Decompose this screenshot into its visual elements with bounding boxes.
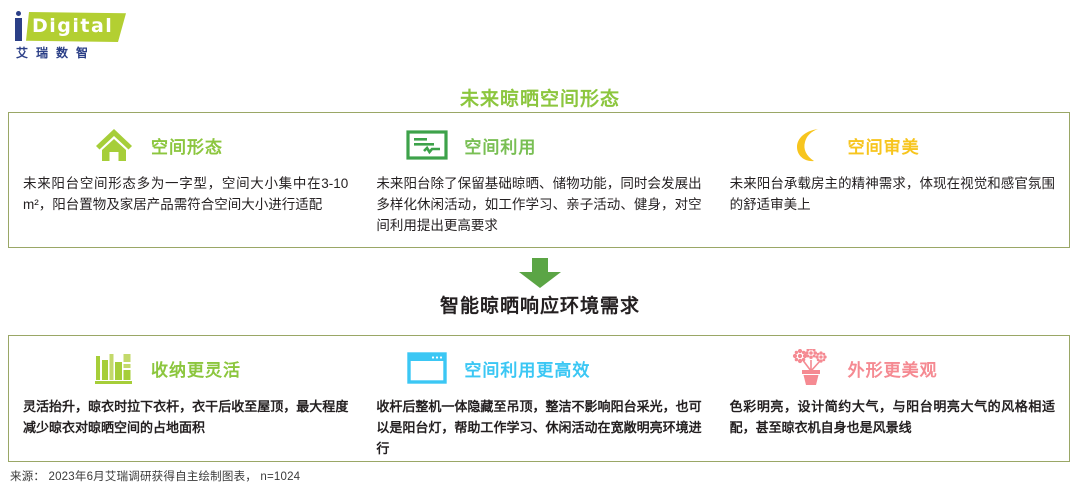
logo-i-stem-icon: [15, 18, 22, 41]
column-title: 空间利用: [464, 133, 536, 158]
column-header: 空间利用更高效: [376, 346, 701, 390]
column-title: 空间利用更高效: [464, 356, 590, 381]
column-header: 空间形态: [23, 123, 348, 167]
logo-chinese-name: 艾瑞数智: [16, 44, 96, 61]
column-header: 空间利用: [376, 123, 701, 167]
source-note: 来源： 2023年6月艾瑞调研获得自主绘制图表， n=1024: [10, 468, 300, 484]
column-header: 空间审美: [730, 123, 1055, 167]
flower-pot-icon: [790, 348, 832, 388]
logo-mark: Digital: [14, 10, 130, 42]
column-title: 外形更美观: [848, 356, 938, 381]
column-title: 空间审美: [848, 133, 920, 158]
column-header: 收纳更灵活: [23, 346, 348, 390]
down-arrow-icon: [517, 258, 563, 288]
panel-top-column-space-form: 空间形态 未来阳台空间形态多为一字型，空间大小集中在3-10 m²，阳台置物及家…: [9, 113, 362, 247]
panel-bottom-column-space-efficiency: 空间利用更高效 收杆后整机一体隐藏至吊顶，整洁不影响阳台采光，也可以是阳台灯，帮…: [362, 336, 715, 461]
smart-drying-response-panel: 收纳更灵活 灵活抬升，晾衣时拉下衣杆，衣干后收至屋顶，最大程度减少晾衣对晾晒空间…: [8, 335, 1070, 462]
house-icon: [93, 125, 135, 165]
column-body-text: 未来阳台承载房主的精神需求，体现在视觉和感官氛围的舒适审美上: [730, 173, 1055, 215]
moon-icon: [790, 125, 832, 165]
panel-top-column-aesthetics: 空间审美 未来阳台承载房主的精神需求，体现在视觉和感官氛围的舒适审美上: [716, 113, 1069, 247]
window-icon: [406, 348, 448, 388]
panel-bottom-column-appearance: 外形更美观 色彩明亮，设计简约大气，与阳台明亮大气的风格相适配，甚至晾衣机自身也…: [716, 336, 1069, 461]
logo-wordmark: Digital: [32, 14, 124, 38]
document-lines-icon: [406, 125, 448, 165]
column-title: 空间形态: [151, 133, 223, 158]
column-body-text: 未来阳台除了保留基础晾晒、储物功能，同时会发展出多样化休闲活动，如工作学习、亲子…: [376, 173, 701, 236]
bookshelf-icon: [93, 348, 135, 388]
column-body-text: 收杆后整机一体隐藏至吊顶，整洁不影响阳台采光，也可以是阳台灯，帮助工作学习、休闲…: [376, 396, 701, 459]
brand-logo: Digital 艾瑞数智: [14, 10, 234, 66]
column-body-text: 未来阳台空间形态多为一字型，空间大小集中在3-10 m²，阳台置物及家居产品需符…: [23, 173, 348, 215]
page-title-top: 未来晾晒空间形态: [0, 84, 1080, 111]
column-title: 收纳更灵活: [151, 356, 241, 381]
column-body-text: 色彩明亮，设计简约大气，与阳台明亮大气的风格相适配，甚至晾衣机自身也是风景线: [730, 396, 1055, 438]
future-space-form-panel: 空间形态 未来阳台空间形态多为一字型，空间大小集中在3-10 m²，阳台置物及家…: [8, 112, 1070, 248]
column-header: 外形更美观: [730, 346, 1055, 390]
page-title-middle: 智能晾晒响应环境需求: [0, 291, 1080, 318]
panel-bottom-column-storage: 收纳更灵活 灵活抬升，晾衣时拉下衣杆，衣干后收至屋顶，最大程度减少晾衣对晾晒空间…: [9, 336, 362, 461]
column-body-text: 灵活抬升，晾衣时拉下衣杆，衣干后收至屋顶，最大程度减少晾衣对晾晒空间的占地面积: [23, 396, 348, 438]
panel-top-column-space-use: 空间利用 未来阳台除了保留基础晾晒、储物功能，同时会发展出多样化休闲活动，如工作…: [362, 113, 715, 247]
logo-i-dot-icon: [16, 11, 21, 16]
